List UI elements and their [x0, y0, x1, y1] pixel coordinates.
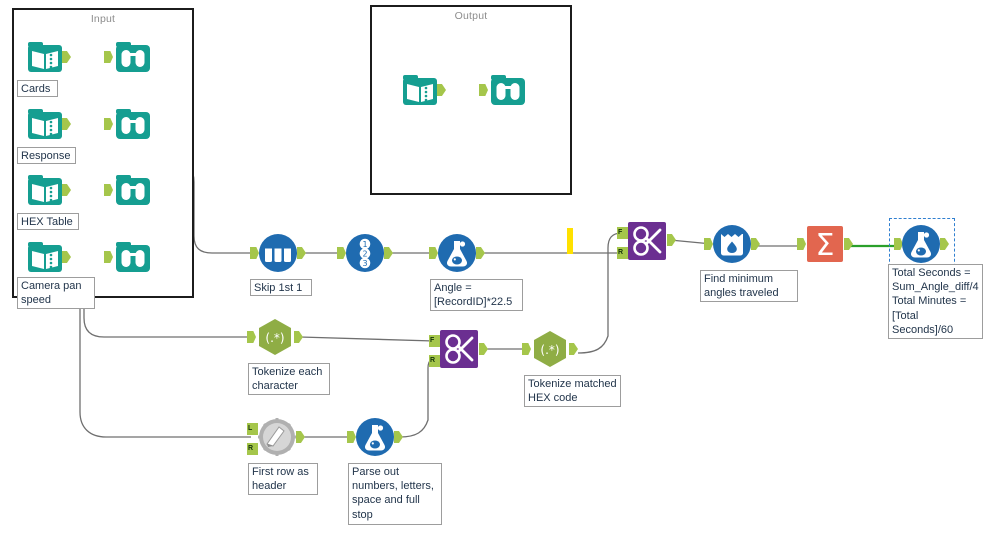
browse-2[interactable] [113, 104, 153, 144]
final-formula-tool[interactable] [901, 224, 941, 264]
label-select: Skip 1st 1 [250, 279, 312, 296]
label-camera-pan-speed: Camera pan speed [17, 277, 95, 309]
svg-text:2: 2 [362, 250, 367, 259]
wire-parse-findreplacemid-r [400, 357, 440, 437]
browse-1[interactable] [113, 37, 153, 77]
browse-4[interactable] [113, 237, 153, 277]
anchor-out-select[interactable] [297, 247, 306, 259]
anchor-out-angle-formula[interactable] [476, 247, 485, 259]
dynamic-rename-tool[interactable] [257, 417, 297, 457]
formula-flask-icon [901, 224, 941, 264]
wire-regexhex-findreplace-f [578, 233, 622, 353]
record-id-tool[interactable]: 1 2 3 [345, 233, 385, 273]
svg-text:3: 3 [362, 259, 367, 268]
label-response: Response [17, 147, 76, 164]
text-input-icon [25, 170, 65, 210]
text-input-cards[interactable] [25, 37, 65, 77]
annotation-marker [567, 228, 573, 254]
label-dynamic-rename: First row as header [248, 463, 318, 495]
output-text-input[interactable] [400, 70, 440, 110]
browse-icon [113, 237, 153, 277]
label-multi-row: Find minimum angles traveled [700, 270, 798, 302]
anchor-out-find-replace-mid[interactable] [479, 343, 488, 355]
label-regex-hex: Tokenize matched HEX code [524, 375, 621, 407]
workflow-canvas[interactable]: Input Cards [0, 0, 999, 534]
text-input-icon [25, 104, 65, 144]
output-browse[interactable] [488, 70, 528, 110]
text-input-hex-table[interactable] [25, 170, 65, 210]
text-input-icon [400, 70, 440, 110]
browse-3[interactable] [113, 170, 153, 210]
anchor-out-regex-hex[interactable] [569, 343, 578, 355]
browse-icon [113, 37, 153, 77]
label-final-formula: Total Seconds = Sum_Angle_diff/4 Total M… [888, 264, 983, 339]
browse-icon [488, 70, 528, 110]
select-tool[interactable] [258, 233, 298, 273]
find-replace-icon [439, 329, 479, 369]
anchor-out-dynamic-rename[interactable] [296, 431, 305, 443]
multi-row-formula-tool[interactable] [712, 224, 752, 264]
dynamic-rename-icon [257, 417, 297, 457]
regex-hex-tool[interactable]: (.*) [530, 329, 570, 369]
wire-regexeach-findreplacemid [300, 337, 434, 341]
summarize-tool[interactable]: Σ [805, 224, 845, 264]
label-parse-formula: Parse out numbers, letters, space and fu… [348, 463, 442, 525]
anchor-out-parse-formula[interactable] [394, 431, 403, 443]
text-input-icon [25, 237, 65, 277]
text-input-icon [25, 37, 65, 77]
label-hex-table: HEX Table [17, 213, 79, 230]
text-input-camera-pan-speed[interactable] [25, 237, 65, 277]
svg-text:1: 1 [362, 240, 367, 249]
regex-each-character-tool[interactable]: (.*) [255, 317, 295, 357]
find-replace-mid-tool[interactable] [439, 329, 479, 369]
label-angle-formula: Angle = [RecordID]*22.5 [430, 279, 523, 311]
parse-formula-tool[interactable] [355, 417, 395, 457]
output-container-title: Output [372, 10, 570, 22]
anchor-out-record-id[interactable] [384, 247, 393, 259]
find-replace-main-tool[interactable] [627, 221, 667, 261]
svg-text:(.*): (.*) [540, 343, 559, 357]
text-input-response[interactable] [25, 104, 65, 144]
record-id-icon: 1 2 3 [345, 233, 385, 273]
label-cards: Cards [17, 80, 58, 97]
svg-text:(.*): (.*) [265, 331, 284, 345]
formula-flask-icon [355, 417, 395, 457]
formula-flask-icon [437, 233, 477, 273]
find-replace-icon [627, 221, 667, 261]
summarize-sigma-icon: Σ [805, 224, 845, 264]
regex-icon: (.*) [530, 329, 570, 369]
anchor-out-summarize[interactable] [844, 238, 853, 250]
anchor-out-regex-each[interactable] [294, 331, 303, 343]
browse-icon [113, 170, 153, 210]
regex-icon: (.*) [255, 317, 295, 357]
anchor-out-multi-row[interactable] [751, 238, 760, 250]
angle-formula-tool[interactable] [437, 233, 477, 273]
svg-text:Σ: Σ [816, 228, 835, 263]
select-columns-icon [258, 233, 298, 273]
label-regex-each: Tokenize each character [248, 363, 330, 395]
input-container-title: Input [14, 13, 192, 25]
browse-icon [113, 104, 153, 144]
anchor-out-find-replace-main[interactable] [667, 234, 676, 246]
multi-row-formula-icon [712, 224, 752, 264]
